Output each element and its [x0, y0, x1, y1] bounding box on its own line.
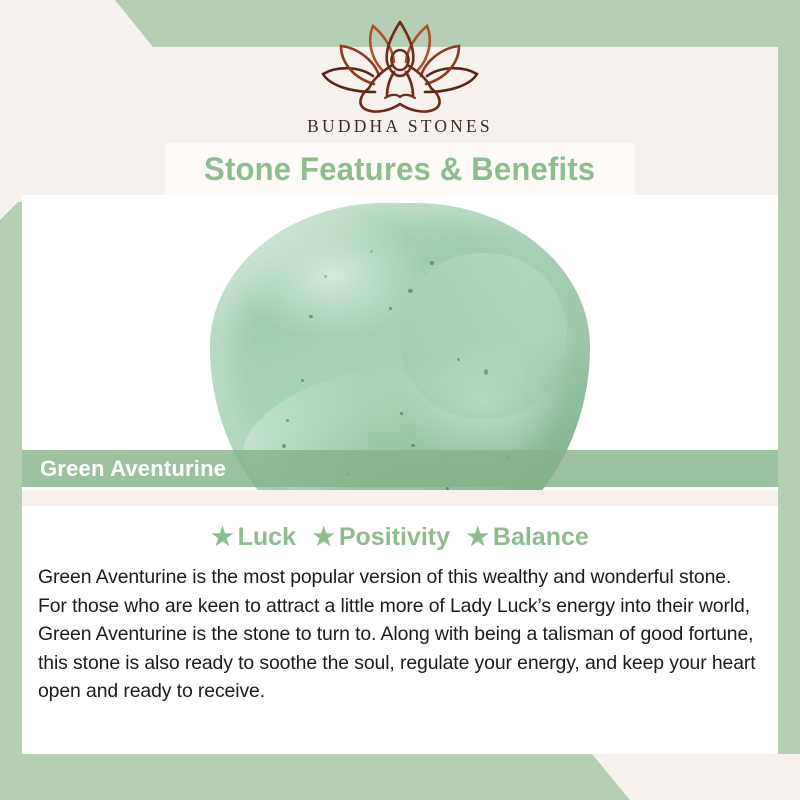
star-icon: ★ — [466, 523, 488, 551]
description-text: Green Aventurine is the most popular ver… — [38, 563, 762, 706]
poster-root: BUDDHA STONES Stone Features & Benefits — [0, 0, 800, 800]
feature-item: ★Luck — [211, 522, 296, 552]
feature-item: ★Positivity — [312, 522, 450, 552]
star-icon: ★ — [211, 523, 233, 551]
feature-item: ★Balance — [466, 522, 588, 552]
page-title: Stone Features & Benefits — [204, 151, 595, 188]
feature-label: Balance — [493, 523, 589, 551]
feature-label: Luck — [238, 523, 296, 551]
green-aventurine-stone-image — [210, 203, 590, 490]
product-photo — [22, 195, 778, 490]
brand-logo: BUDDHA STONES — [0, 18, 800, 137]
brand-wordmark: BUDDHA STONES — [0, 116, 800, 137]
lotus-meditation-icon — [317, 18, 483, 114]
description-section: ★Luck ★Positivity ★Balance Green Aventur… — [22, 506, 778, 754]
section-divider — [22, 490, 778, 506]
feature-list: ★Luck ★Positivity ★Balance — [22, 522, 778, 552]
star-icon: ★ — [312, 523, 334, 551]
frame-left-bar — [0, 202, 22, 754]
frame-bottom-bar — [0, 754, 800, 800]
product-name: Green Aventurine — [40, 456, 226, 482]
title-card: Stone Features & Benefits — [165, 143, 635, 195]
product-name-band: Green Aventurine — [22, 450, 778, 487]
frame-right-bar — [778, 47, 800, 754]
feature-label: Positivity — [339, 523, 450, 551]
